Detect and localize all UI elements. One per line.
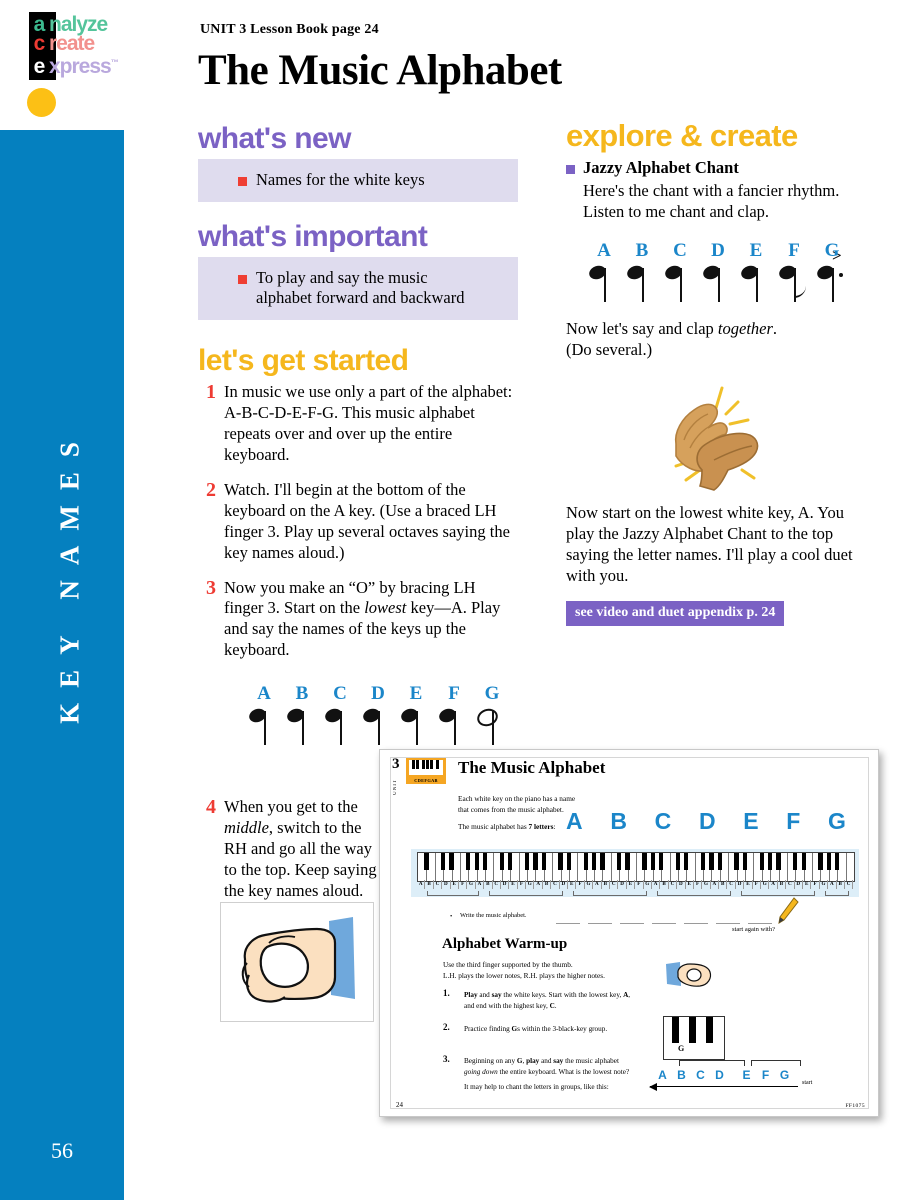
whats-important-item-0: To play and say the music alphabet forwa… [256,268,481,309]
bottom-letter-c: C [691,1068,710,1082]
key-label: D [618,880,626,889]
white-key-divider [846,853,847,881]
key-label: E [509,880,517,889]
key-label: F [753,880,761,889]
note-stem [264,711,266,745]
key-label: A [534,880,542,889]
note-d: D [360,683,398,745]
right-column: explore & create Jazzy Alphabet Chant He… [566,118,876,626]
note-row-lets-get-started: A B C D E F G [246,683,518,745]
mini-key-label: G [678,1044,684,1053]
note-letter: E [402,683,430,705]
note-stem [604,268,606,302]
note-stem [340,711,342,745]
white-key-divider [787,853,788,881]
white-key-divider [812,853,813,881]
black-key [508,853,512,870]
key-label: B [660,880,668,889]
small-hand-icon [664,958,716,992]
whats-new-heading: what's new [198,122,518,156]
key-label: G [702,880,710,889]
explore-create-heading: explore & create [566,118,876,154]
black-key [558,853,562,870]
logo-letter-e: e [29,56,49,78]
black-key [793,853,797,870]
white-key-divider [728,853,729,881]
key-label: F [518,880,526,889]
unit-keyboard-badge: CDEFGAB [406,758,446,784]
ace-logo: analyze create express™ [29,12,149,82]
warmup-intro: Use the third finger supported by the th… [443,960,605,981]
warmup-text-1: Play and say the white keys. Start with … [464,990,630,1012]
thumbnail-sub: The music alphabet has 7 letters: [458,822,555,833]
black-key [567,853,571,870]
list-item: To play and say the music alphabet forwa… [198,268,508,309]
white-key-divider [460,853,461,881]
white-key-divider [493,853,494,881]
white-key-divider [611,853,612,881]
note-e: E [398,683,436,745]
note-letter: B [288,683,316,705]
direction-arrow-icon [650,1086,798,1087]
page-title: The Music Alphabet [198,46,562,95]
key-label: E [744,880,752,889]
black-key [600,853,604,870]
white-key-divider [670,853,671,881]
key-label: A [476,880,484,889]
note-letter: A [590,240,618,262]
black-key [734,853,738,870]
logo-word-express: xpress [49,55,111,78]
note-f-eighth: F [776,240,814,302]
key-label: A [711,880,719,889]
square-bullet-icon [238,275,247,284]
key-label: A [652,880,660,889]
black-key [642,853,646,870]
note-stem [832,268,834,302]
white-key-divider [577,853,578,881]
note-c: C [322,683,360,745]
key-label: G [526,880,534,889]
augmentation-dot-icon [839,273,843,277]
black-key [701,853,705,870]
white-key-divider [519,853,520,881]
eighth-flag-icon [794,274,806,298]
chant-block: Jazzy Alphabet Chant Here's the chant wi… [566,158,876,222]
letter-d: D [699,808,716,835]
bottom-letter-b: B [672,1068,691,1082]
badge-caption: CDEFGAB [406,778,446,783]
white-key-divider [552,853,553,881]
sidebar-rail: KEY NAMES 56 [0,130,124,1200]
key-label: A [593,880,601,889]
warmup-hint: It may help to chant the letters in grou… [464,1082,609,1093]
key-label: B [543,880,551,889]
note-letter: G [478,683,506,705]
write-alphabet-text: Write the music alphabet. [460,912,527,919]
step-number: 3 [198,578,224,662]
black-key [718,853,722,870]
key-label: B [425,880,433,889]
white-key-divider [695,853,696,881]
key-label: D [560,880,568,889]
square-bullet-icon [238,177,247,186]
note-row-jazzy-chant: A B C D E F >G [586,240,876,302]
warmup-text-2: Practice finding Gs within the 3-black-k… [464,1024,607,1035]
note-g-half: G [474,683,512,745]
key-label: G [820,880,828,889]
key-label: E [451,880,459,889]
thumbnail-page-number: 24 [396,1101,403,1109]
bottom-letter-d: D [710,1068,729,1082]
key-label: B [719,880,727,889]
note-d: D [700,240,738,302]
white-key-divider [753,853,754,881]
lets-get-started-heading: let's get started [198,344,518,378]
black-key [659,853,663,870]
bottom-letter-row: A B C D E F G [653,1068,794,1082]
whats-new-box: Names for the white keys [198,159,518,202]
key-label: B [778,880,786,889]
thumbnail-title: The Music Alphabet [458,758,605,778]
note-letter: A [250,683,278,705]
chant-text-wrap: Jazzy Alphabet Chant Here's the chant wi… [583,158,873,222]
whats-important-heading: what's important [198,220,518,254]
key-label: A [769,880,777,889]
key-label: F [576,880,584,889]
thumbnail-unit-word: UNIT [393,772,403,802]
note-stem [416,711,418,745]
clapping-hands-illustration [656,374,786,492]
black-key [802,853,806,870]
trademark-symbol: ™ [111,58,118,67]
note-g-dotted: >G [814,240,852,302]
key-label: C [669,880,677,889]
black-key [827,853,831,870]
three-black-key-group: G [663,1016,725,1060]
whats-new-item-0: Names for the white keys [256,170,425,191]
key-label: C [610,880,618,889]
note-stem [454,711,456,745]
key-label: D [677,880,685,889]
note-e: E [738,240,776,302]
key-label: E [803,880,811,889]
chant-intro: Here's the chant with a fancier rhythm. … [583,180,873,222]
key-label: D [795,880,803,889]
video-appendix-link[interactable]: see video and duet appendix p. 24 [566,601,784,626]
bottom-letter-a: A [653,1068,672,1082]
black-key [592,853,596,870]
lesson-book-thumbnail[interactable]: 3 UNIT CDEFGAB The Music Alphabet Each w… [379,749,879,1117]
unit-kicker: UNIT 3 Lesson Book page 24 [200,22,379,38]
thumbnail-product-code: FF1075 [845,1103,865,1109]
bottom-letter-g: G [775,1068,794,1082]
page-number: 56 [0,1138,124,1164]
hand-icon [221,903,371,1019]
note-letter: D [364,683,392,705]
arrow-start-label: start [802,1080,812,1086]
note-letter: F [780,240,808,262]
key-label: G [644,880,652,889]
whats-important-box: To play and say the music alphabet forwa… [198,257,518,320]
key-label: F [459,880,467,889]
step-number: 1 [198,382,224,466]
key-label: C [786,880,794,889]
after-clap-text: Now start on the lowest white key, A. Yo… [566,502,866,586]
note-stem [642,268,644,302]
key-label: E [568,880,576,889]
black-key [542,853,546,870]
bottom-letter-f: F [756,1068,775,1082]
letter-f: F [786,808,800,835]
note-b: B [624,240,662,302]
warmup-number-3: 3. [443,1054,450,1064]
keyboard-note-labels: ABCDEFGABCDEFGABCDEFGABCDEFGABCDEFGABCDE… [417,880,853,889]
note-f: F [436,683,474,745]
note-a: A [246,683,284,745]
note-stem [378,711,380,745]
letter-a: A [566,808,583,835]
black-key [768,853,772,870]
list-item: 3 Now you make an “O” by bracing LH fing… [198,578,518,662]
square-bullet-icon [566,165,575,174]
letter-c: C [655,808,672,835]
sidebar-unit-label: KEY NAMES [55,176,86,976]
letter-b: B [610,808,627,835]
warmup-number-1: 1. [443,988,450,998]
key-label: E [627,880,635,889]
key-label: G [761,880,769,889]
black-key [709,853,713,870]
letter-e: E [743,808,758,835]
key-label: B [602,880,610,889]
key-label: D [442,880,450,889]
key-label: F [694,880,702,889]
key-label: E [686,880,694,889]
list-item: 1 In music we use only a part of the alp… [198,382,518,466]
note-stem [492,711,494,745]
key-label: C [434,880,442,889]
black-key [743,853,747,870]
key-label: D [501,880,509,889]
write-alphabet-bullet: • [450,913,452,920]
piano-keyboard-graphic [417,852,855,882]
black-key [533,853,537,870]
note-c: C [662,240,700,302]
braced-hand-illustration [220,902,374,1022]
key-label: G [585,880,593,889]
black-key [584,853,588,870]
black-key [760,853,764,870]
black-key [483,853,487,870]
note-stem [302,711,304,745]
note-letter: F [440,683,468,705]
yellow-dot-decoration [27,88,56,117]
black-key [617,853,621,870]
key-label: G [467,880,475,889]
black-key [684,853,688,870]
key-label: A [828,880,836,889]
white-key-divider [636,853,637,881]
key-label: F [635,880,643,889]
black-key [449,853,453,870]
chant-title: Jazzy Alphabet Chant [583,158,739,177]
key-label: C [727,880,735,889]
key-label: F [811,880,819,889]
black-key [776,853,780,870]
pencil-icon [776,896,800,926]
key-label: B [484,880,492,889]
note-b: B [284,683,322,745]
black-key [424,853,428,870]
list-item: Names for the white keys [198,170,508,191]
thumbnail-keyboard: ABCDEFGABCDEFGABCDEFGABCDEFGABCDEFGABCDE… [411,849,859,897]
key-label: A [417,880,425,889]
note-letter: C [666,240,694,262]
after-notes-text: Now let's say and clap together.(Do seve… [566,318,876,360]
thumbnail-unit-number: 3 [392,756,400,773]
list-item: 2 Watch. I'll begin at the bottom of the… [198,480,518,564]
black-key [466,853,470,870]
notehead [475,706,501,729]
black-key [835,853,839,870]
step-text: Now you make an “O” by bracing LH finger… [224,578,518,662]
note-letter: C [326,683,354,705]
black-key [676,853,680,870]
step-number: 2 [198,480,224,564]
note-stem [680,268,682,302]
note-stem [756,268,758,302]
key-label: C [493,880,501,889]
black-key [625,853,629,870]
logo-row-express: express™ [29,52,118,74]
black-key [441,853,445,870]
key-label: B [837,880,845,889]
black-key [651,853,655,870]
note-stem [718,268,720,302]
key-label: C [845,880,853,889]
warmup-text-3: Beginning on any G, play and say the mus… [464,1056,629,1078]
note-letter: D [704,240,732,262]
warmup-title: Alphabet Warm-up [442,936,567,953]
black-key [525,853,529,870]
black-key [475,853,479,870]
black-key [500,853,504,870]
step-text: Watch. I'll begin at the bottom of the k… [224,480,518,564]
note-letter: B [628,240,656,262]
bottom-letter-e: E [737,1068,756,1082]
thumbnail-intro: Each white key on the piano has a nameth… [458,794,575,815]
black-key [818,853,822,870]
note-a: A [586,240,624,302]
note-letter: G [818,240,846,262]
step-text: In music we use only a part of the alpha… [224,382,518,466]
start-again-text: start again with? [732,926,775,933]
clapping-hands-icon [656,374,786,492]
note-letter: E [742,240,770,262]
thumbnail-letter-row: A B C D E F G [566,808,846,835]
key-label: D [736,880,744,889]
white-key-divider [435,853,436,881]
key-label: C [551,880,559,889]
warmup-number-2: 2. [443,1022,450,1032]
letter-g: G [828,808,846,835]
